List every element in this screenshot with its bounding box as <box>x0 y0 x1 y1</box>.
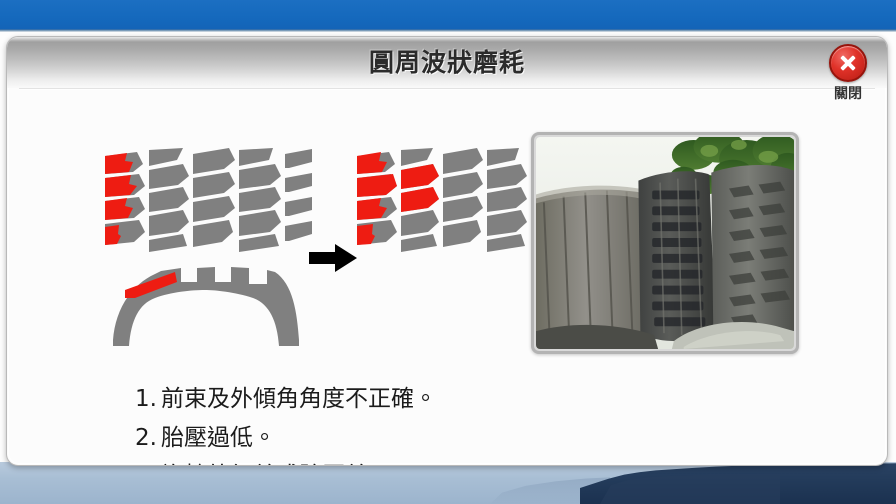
tread-pattern-before <box>103 148 313 253</box>
list-item: 2.胎壓過低。 <box>135 419 655 458</box>
close-x-icon[interactable] <box>829 44 867 82</box>
list-item-number: 3. <box>135 457 161 466</box>
dialog-content: 1.前束及外傾角角度不正確。 2.胎壓過低。 3.複輪外徑差或胎壓差。 <box>7 90 887 465</box>
progression-arrow <box>307 242 359 274</box>
list-item-text: 複輪外徑差或胎壓差。 <box>161 463 391 466</box>
titlebar-gloss <box>7 37 887 42</box>
info-dialog: 圓周波狀磨耗 關閉 <box>6 36 888 466</box>
worn-truck-tires-photo <box>531 132 799 354</box>
list-item-text: 胎壓過低。 <box>161 425 276 451</box>
tire-cross-section <box>103 258 307 358</box>
causes-list: 1.前束及外傾角角度不正確。 2.胎壓過低。 3.複輪外徑差或胎壓差。 <box>135 380 655 466</box>
list-item-number: 2. <box>135 419 161 458</box>
list-item: 1.前束及外傾角角度不正確。 <box>135 380 655 419</box>
wallpaper-sky-edge <box>0 29 896 32</box>
list-item: 3.複輪外徑差或胎壓差。 <box>135 457 655 466</box>
list-item-number: 1. <box>135 380 161 419</box>
screen: 圓周波狀磨耗 關閉 <box>0 0 896 504</box>
tread-pattern-after <box>355 148 531 253</box>
wallpaper-sky-band <box>0 0 896 31</box>
dialog-title: 圓周波狀磨耗 <box>7 43 887 79</box>
list-item-text: 前束及外傾角角度不正確。 <box>161 386 437 412</box>
